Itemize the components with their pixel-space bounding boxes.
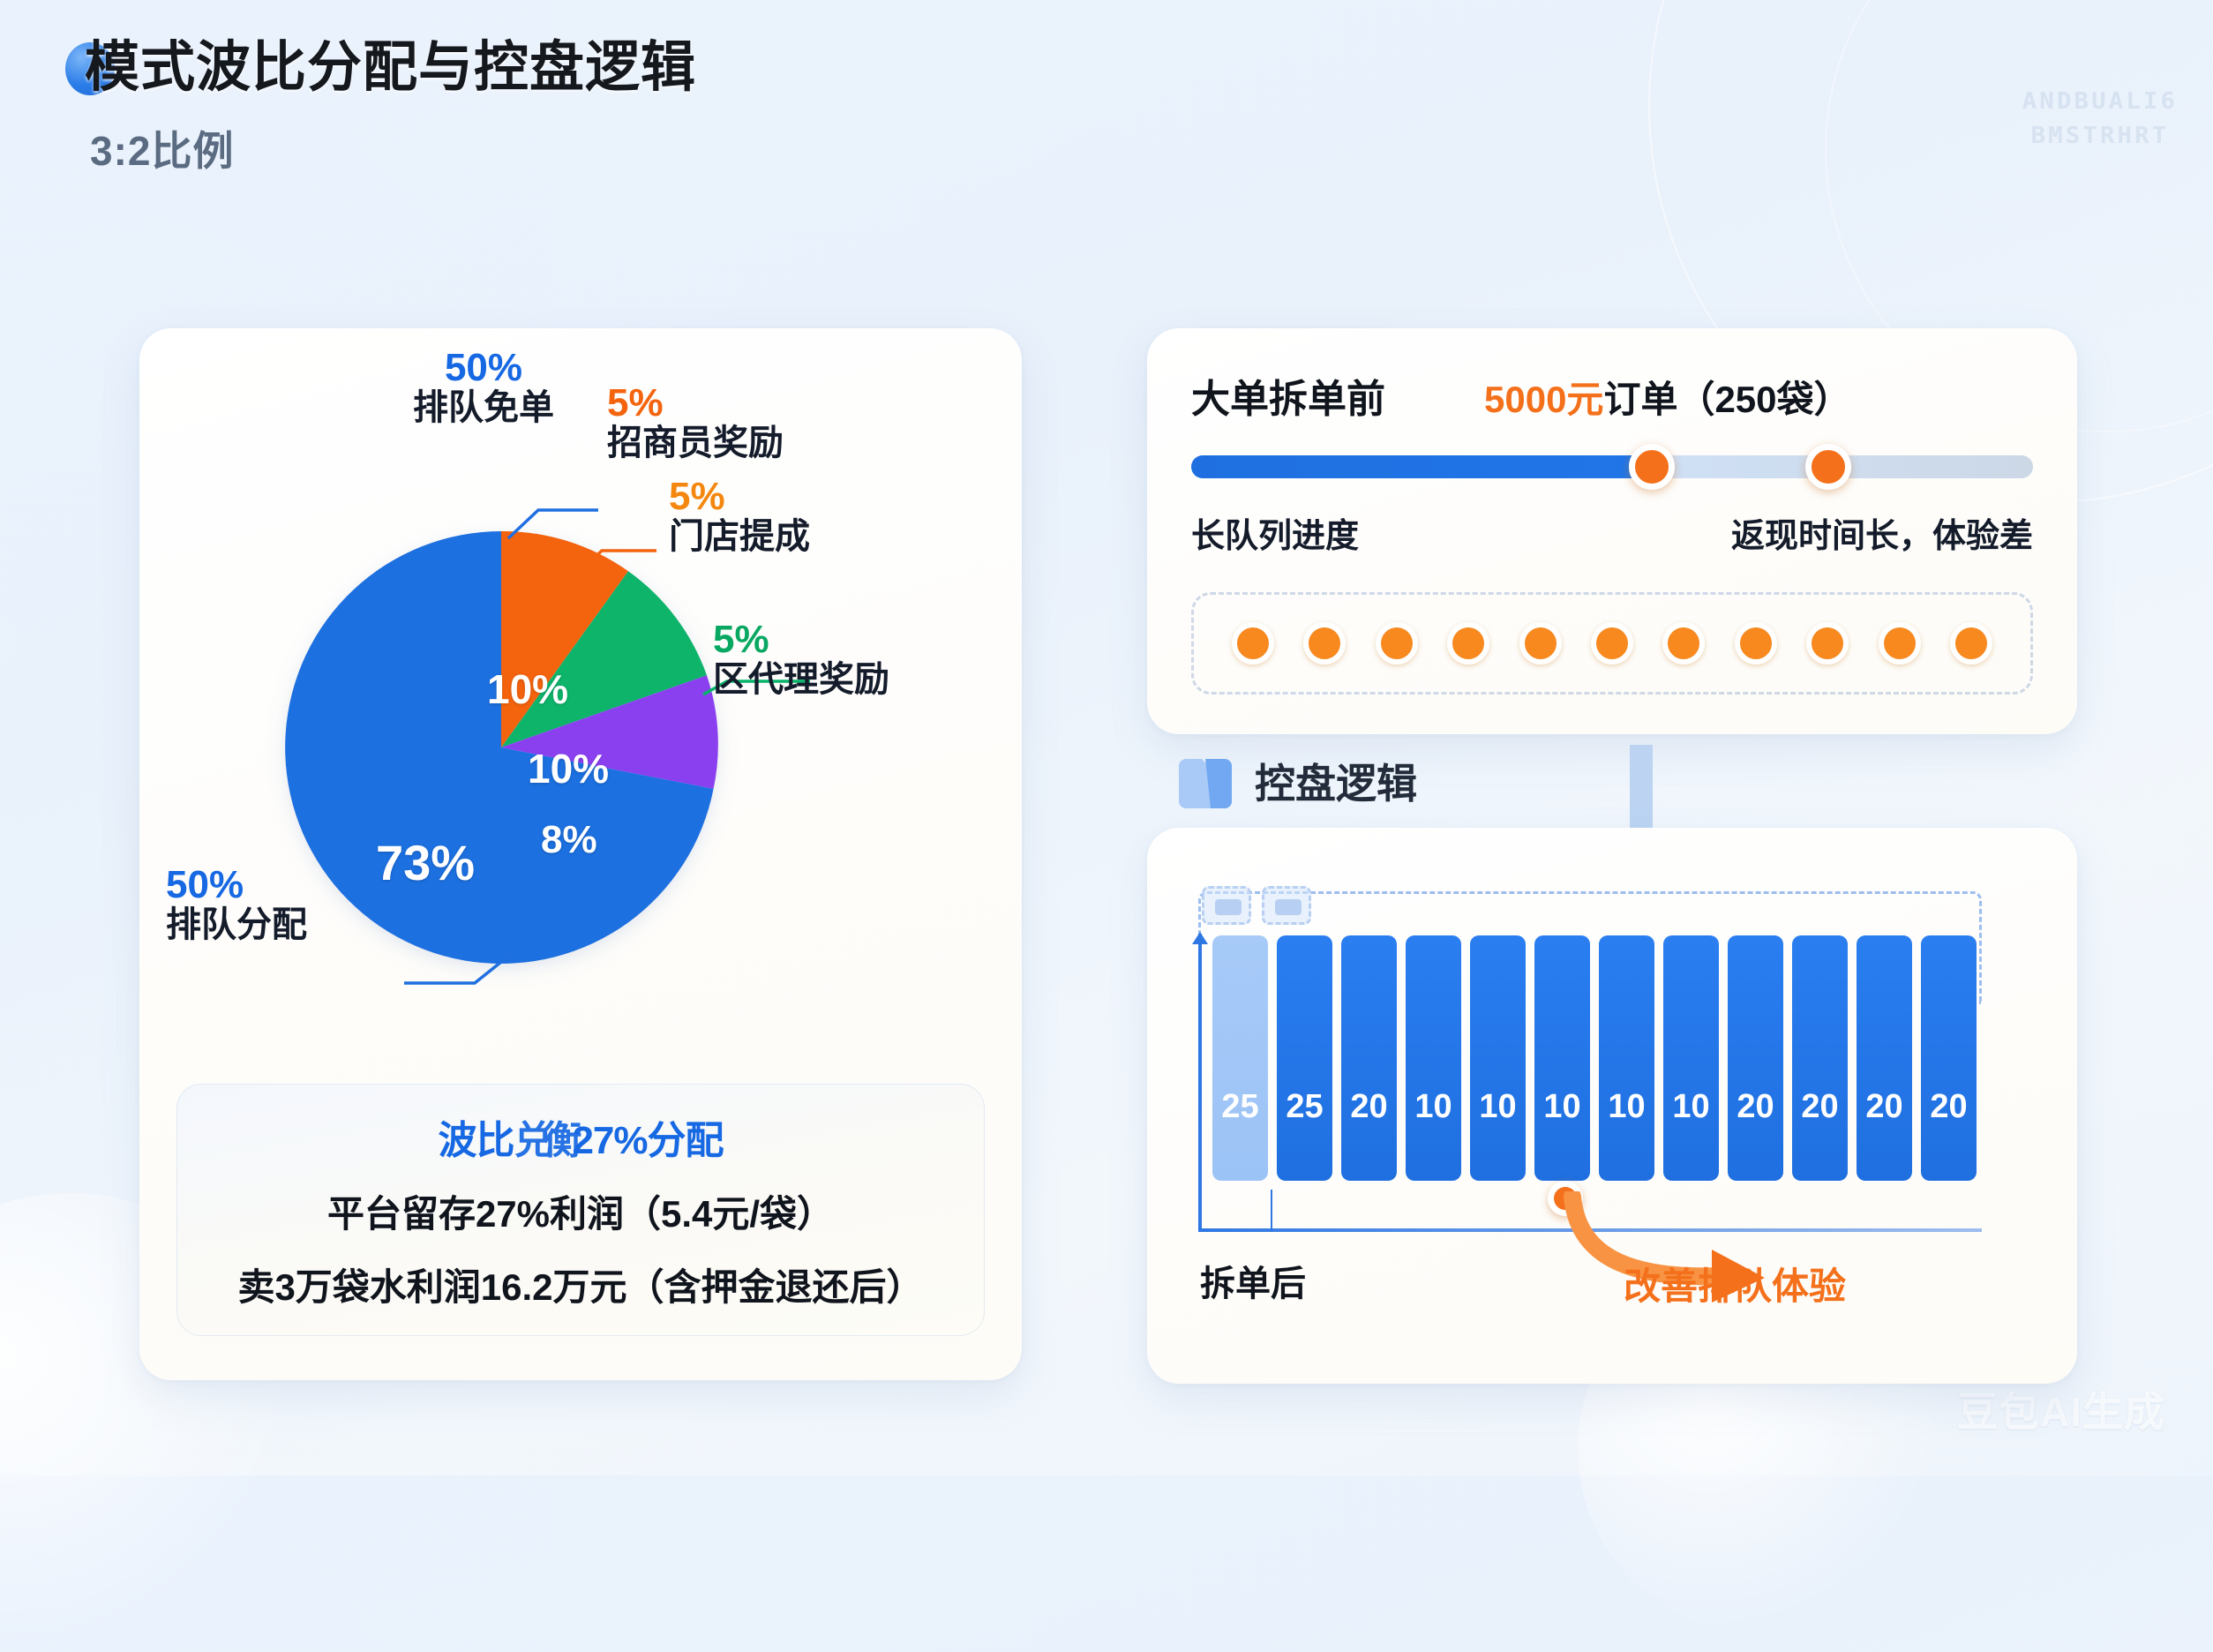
bar-item[interactable]: 10 bbox=[1534, 935, 1590, 1181]
bar-item[interactable]: 25 bbox=[1277, 935, 1332, 1181]
caption-long-rebate: 返现时间长，体验差 bbox=[1731, 508, 2033, 557]
folder-icon bbox=[1175, 754, 1235, 808]
ghost-chip-icon bbox=[1202, 886, 1251, 925]
pie-callout-paidui-fenpei: 50% 排队分配 bbox=[166, 865, 431, 945]
pie-slice-value-purple: 8% bbox=[541, 818, 597, 862]
callout-name: 排队分配 bbox=[166, 905, 431, 945]
order-dot[interactable] bbox=[1879, 622, 1921, 665]
ghost-chip-icon bbox=[1262, 886, 1311, 925]
bar-item[interactable]: 20 bbox=[1728, 935, 1783, 1181]
pie-callout-paidui-miandan: 50% 排队免单 bbox=[325, 348, 642, 428]
order-dot[interactable] bbox=[1806, 622, 1849, 665]
callout-pct: 5% bbox=[669, 477, 934, 517]
queue-progress-slider[interactable] bbox=[1191, 455, 2033, 478]
pie-callout-qudaili: 5% 区代理奖励 bbox=[713, 619, 995, 700]
info-box-line-2: 平台留存27%利润（5.4元/袋） bbox=[327, 1184, 834, 1238]
order-dot[interactable] bbox=[1447, 622, 1489, 665]
bar-item[interactable]: 10 bbox=[1663, 935, 1719, 1181]
y-axis bbox=[1198, 934, 1202, 1232]
order-split-title: 大单拆单前 bbox=[1191, 367, 1385, 424]
order-split-before-card: 大单拆单前 5000元订单（250袋） 长队列进度 返现时间长，体验差 bbox=[1147, 328, 2077, 734]
callout-pct: 50% bbox=[166, 865, 431, 905]
after-split-label: 拆单后 bbox=[1200, 1255, 1306, 1306]
order-split-content: 大单拆单前 5000元订单（250袋） 长队列进度 返现时间长，体验差 bbox=[1191, 367, 2033, 695]
control-logic-chart-card: 25 25 20 10 10 10 10 10 20 20 20 20 拆单后 … bbox=[1147, 828, 2077, 1384]
heading-garbled-text: 兑衡 bbox=[514, 1119, 572, 1162]
order-amount: 5000元 bbox=[1484, 379, 1603, 420]
caption-queue-progress: 长队列进度 bbox=[1191, 508, 1359, 557]
callout-name: 招商员奖励 bbox=[607, 424, 907, 463]
page-title: 模式波比分配与控盘逻辑 bbox=[85, 39, 696, 98]
callout-pct: 5% bbox=[713, 619, 995, 660]
section-title: 控盘逻辑 bbox=[1255, 752, 1417, 810]
pie-chart-area: 10% 10% 8% 73% 50% 排队免单 5% 招商员奖励 5% 门店提成… bbox=[139, 328, 1022, 1061]
bar-chart-area: 25 25 20 10 10 10 10 10 20 20 20 20 拆单后 … bbox=[1147, 828, 2077, 1384]
callout-name: 门店提成 bbox=[669, 517, 934, 557]
order-split-header: 大单拆单前 5000元订单（250袋） bbox=[1191, 367, 2033, 424]
pie-chart-card: 10% 10% 8% 73% 50% 排队免单 5% 招商员奖励 5% 门店提成… bbox=[139, 328, 1022, 1380]
pie-callout-mendian-ticheng: 5% 门店提成 bbox=[669, 477, 934, 557]
order-dot[interactable] bbox=[1232, 622, 1274, 665]
order-dot[interactable] bbox=[1303, 622, 1346, 665]
order-dot[interactable] bbox=[1950, 622, 1992, 665]
callout-pct: 5% bbox=[607, 383, 907, 424]
page-subtitle: 3:2比例 bbox=[90, 119, 696, 177]
order-dot[interactable] bbox=[1591, 622, 1633, 665]
pie-slice-value-orange: 10% bbox=[487, 665, 568, 713]
order-dot[interactable] bbox=[1519, 622, 1562, 665]
order-detail: 订单（250袋） bbox=[1603, 379, 1850, 420]
order-dots-container bbox=[1191, 592, 2033, 695]
watermark-bottom-right: 豆包AI生成 bbox=[1957, 1380, 2165, 1438]
info-box-heading: 波比兑衡27%分配 bbox=[438, 1108, 723, 1165]
bar-item[interactable]: 20 bbox=[1857, 935, 1912, 1181]
callout-name: 排队免单 bbox=[325, 388, 642, 428]
order-dot[interactable] bbox=[1662, 622, 1705, 665]
section-heading-control-logic: 控盘逻辑 bbox=[1175, 752, 1417, 810]
heading-part2: 27%分配 bbox=[572, 1119, 723, 1162]
bar-item[interactable]: 20 bbox=[1921, 935, 1977, 1181]
bar-item[interactable]: 10 bbox=[1599, 935, 1654, 1181]
improve-queue-label: 改善排队体验 bbox=[1624, 1257, 1846, 1310]
title-row: 模式波比分配与控盘逻辑 bbox=[85, 39, 696, 98]
callout-pct: 50% bbox=[325, 348, 642, 388]
order-dot[interactable] bbox=[1735, 622, 1777, 665]
bar-item[interactable]: 10 bbox=[1470, 935, 1526, 1181]
slider-knob-1[interactable] bbox=[1629, 444, 1675, 490]
bar-item[interactable]: 20 bbox=[1341, 935, 1397, 1181]
page-header: 模式波比分配与控盘逻辑 3:2比例 bbox=[85, 39, 696, 177]
bar-series: 25 25 20 10 10 10 10 10 20 20 20 20 bbox=[1212, 935, 1977, 1181]
info-box-line-3: 卖3万袋水利润16.2万元（含押金退还后） bbox=[237, 1258, 923, 1311]
bar-item[interactable]: 25 bbox=[1212, 935, 1268, 1181]
slider-captions: 长队列进度 返现时间长，体验差 bbox=[1191, 508, 2033, 557]
bar-item[interactable]: 20 bbox=[1792, 935, 1848, 1181]
order-summary: 5000元订单（250袋） bbox=[1484, 370, 1851, 424]
pie-slice-value-green: 10% bbox=[528, 745, 609, 792]
heading-part1: 波比 bbox=[438, 1119, 514, 1162]
order-dot[interactable] bbox=[1376, 622, 1418, 665]
pie-callout-zhaoshangyuan: 5% 招商员奖励 bbox=[607, 383, 907, 463]
watermark-top-right: ANDBUALI6BMSTRHRT bbox=[2022, 85, 2178, 154]
profit-info-box: 波比兑衡27%分配 平台留存27%利润（5.4元/袋） 卖3万袋水利润16.2万… bbox=[176, 1084, 985, 1336]
bar-item[interactable]: 10 bbox=[1406, 935, 1461, 1181]
callout-name: 区代理奖励 bbox=[713, 660, 995, 700]
slider-knob-2[interactable] bbox=[1805, 444, 1851, 490]
axis-bracket bbox=[1271, 1190, 1272, 1232]
slider-fill bbox=[1191, 455, 1662, 478]
